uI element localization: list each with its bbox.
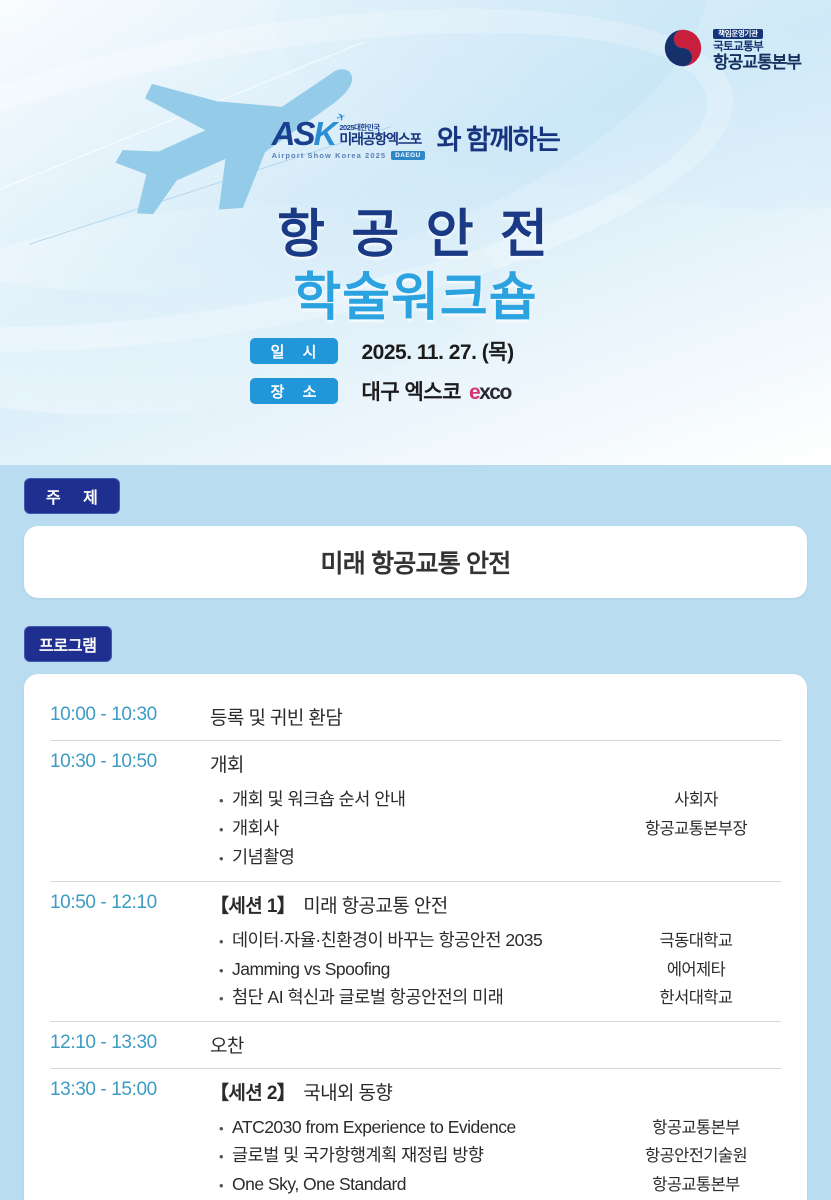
program-item-speaker: 항공교통본부	[611, 1114, 781, 1138]
event-venue-value: 대구 엑스코 exco	[362, 376, 582, 406]
program-card: 10:00 - 10:30등록 및 귀빈 환담10:30 - 10:50개회•개…	[24, 674, 807, 1200]
program-item-text: 글로벌 및 국가항행계획 재정립 방향	[232, 1142, 611, 1167]
program-item-speaker: 항공교통본부장	[611, 815, 781, 839]
program-session-label: 【세션 1】	[210, 896, 295, 917]
program-row-time: 12:10 - 13:30	[50, 1031, 210, 1054]
program-item-speaker: 항공안전기술원	[611, 1142, 781, 1166]
program-item-text: 기념촬영	[232, 844, 611, 869]
bullet-icon: •	[210, 822, 232, 837]
program-item-text: 개회 및 워크숍 순서 안내	[232, 786, 611, 811]
program-item-speaker: 항공교통본부	[611, 1171, 781, 1195]
program-heading-text: 오찬	[210, 1036, 244, 1057]
program-session-label: 【세션 2】	[210, 1083, 295, 1104]
program-row-heading: 등록 및 귀빈 환담	[210, 703, 781, 730]
venue-text: 대구 엑스코	[362, 376, 461, 406]
gov-department-label: 항공교통본부	[713, 54, 801, 72]
program-item-text: 개회사	[232, 815, 611, 840]
program-item-text: 데이터·자율·친환경이 바꾸는 항공안전 2035	[232, 927, 611, 952]
program-row: 10:50 - 12:10【세션 1】미래 항공교통 안전•데이터·자율·친환경…	[50, 882, 781, 1022]
event-info-block: 일 시 2025. 11. 27. (목) 장 소 대구 엑스코 exco	[0, 336, 831, 416]
ask-city-badge: DAEGU	[391, 151, 424, 160]
venue-label-pill: 장 소	[250, 378, 338, 404]
program-item: •ATC2030 from Experience to Evidence항공교통…	[210, 1112, 781, 1140]
program-row-heading: 개회	[210, 750, 781, 777]
program-row: 10:00 - 10:30등록 및 귀빈 환담	[50, 694, 781, 741]
bullet-icon: •	[210, 793, 232, 808]
program-row: 10:30 - 10:50개회•개회 및 워크숍 순서 안내사회자•개회사항공교…	[50, 741, 781, 882]
program-item-text: ATC2030 from Experience to Evidence	[232, 1117, 611, 1138]
theme-text: 미래 항공교통 안전	[321, 544, 511, 580]
program-item: •글로벌 및 국가항행계획 재정립 방향항공안전기술원	[210, 1140, 781, 1169]
program-row-heading: 오찬	[210, 1031, 781, 1058]
program-heading-text: 개회	[210, 755, 244, 776]
event-date-value: 2025. 11. 27. (목)	[362, 336, 582, 366]
program-item: •One Sky, One Standard항공교통본부	[210, 1169, 781, 1197]
date-text: 2025. 11. 27. (목)	[362, 336, 514, 366]
bullet-icon: •	[210, 963, 232, 978]
event-date-row: 일 시 2025. 11. 27. (목)	[0, 336, 831, 366]
program-item-speaker: 한서대학교	[611, 984, 781, 1008]
program-item-list: •데이터·자율·친환경이 바꾸는 항공안전 2035극동대학교•Jamming …	[210, 925, 781, 1011]
program-item: •Jamming vs Spoofing에어제타	[210, 954, 781, 982]
ask-logo: ASK✈ 2025대한민국 미래공항엑스포 Airport Show Korea…	[272, 119, 425, 160]
program-row: 12:10 - 13:30오찬	[50, 1022, 781, 1069]
gov-ministry-label: 국토교통부	[713, 41, 801, 53]
program-row-body: 【세션 2】국내외 동향•ATC2030 from Experience to …	[210, 1078, 781, 1197]
program-row: 13:30 - 15:00【세션 2】국내외 동향•ATC2030 from E…	[50, 1069, 781, 1200]
bullet-icon: •	[210, 934, 232, 949]
program-item-speaker: 에어제타	[611, 956, 781, 980]
program-item-speaker: 사회자	[611, 786, 781, 810]
program-item-speaker: 극동대학교	[611, 927, 781, 951]
ask-kr-large: 미래공항엑스포	[339, 132, 421, 146]
program-item: •첨단 AI 혁신과 글로벌 항공안전의 미래한서대학교	[210, 982, 781, 1011]
program-row-time: 10:00 - 10:30	[50, 703, 210, 726]
poster-header: 책임운영기관 국토교통부 항공교통본부 ASK✈ 2025대한민국 미래공항엑스…	[0, 0, 831, 465]
bullet-icon: •	[210, 1149, 232, 1164]
program-row-heading: 【세션 1】미래 항공교통 안전	[210, 891, 781, 918]
ask-logo-row: ASK✈ 2025대한민국 미래공항엑스포 Airport Show Korea…	[0, 118, 831, 161]
ask-kr-small: 2025대한민국	[339, 124, 421, 132]
taegeuk-icon	[662, 27, 704, 69]
bullet-icon: •	[210, 1178, 232, 1193]
theme-section: 주 제 미래 항공교통 안전	[0, 478, 831, 598]
program-item: •데이터·자율·친환경이 바꾸는 항공안전 2035극동대학교	[210, 925, 781, 954]
event-venue-row: 장 소 대구 엑스코 exco	[0, 376, 831, 406]
program-item-text: Jamming vs Spoofing	[232, 959, 611, 980]
poster-title-line2: 학술워크숍	[0, 255, 831, 330]
program-item: •개회 및 워크숍 순서 안내사회자	[210, 784, 781, 813]
program-row-body: 오찬	[210, 1031, 781, 1058]
ask-sub-english: Airport Show Korea 2025	[272, 151, 387, 160]
with-text: 와 함께하는	[437, 118, 560, 157]
government-logo: 책임운영기관 국토교통부 항공교통본부	[662, 24, 801, 72]
ask-wordmark: ASK✈	[272, 119, 336, 148]
program-section: 프로그램 10:00 - 10:30등록 및 귀빈 환담10:30 - 10:5…	[0, 626, 831, 1200]
program-row-body: 등록 및 귀빈 환담	[210, 703, 781, 730]
program-item-list: •ATC2030 from Experience to Evidence항공교통…	[210, 1112, 781, 1197]
theme-section-badge: 주 제	[24, 478, 120, 514]
program-heading-text: 미래 항공교통 안전	[303, 896, 447, 917]
bullet-icon: •	[210, 1121, 232, 1136]
poster: 책임운영기관 국토교통부 항공교통본부 ASK✈ 2025대한민국 미래공항엑스…	[0, 0, 831, 1200]
program-item-text: One Sky, One Standard	[232, 1174, 611, 1195]
bullet-icon: •	[210, 851, 232, 866]
program-row-time: 10:50 - 12:10	[50, 891, 210, 914]
program-item: •기념촬영	[210, 842, 781, 871]
program-row-body: 【세션 1】미래 항공교통 안전•데이터·자율·친환경이 바꾸는 항공안전 20…	[210, 891, 781, 1011]
bullet-icon: •	[210, 991, 232, 1006]
theme-card: 미래 항공교통 안전	[24, 526, 807, 598]
program-row-body: 개회•개회 및 워크숍 순서 안내사회자•개회사항공교통본부장•기념촬영	[210, 750, 781, 871]
program-heading-text: 국내외 동향	[303, 1083, 392, 1104]
program-item: •개회사항공교통본부장	[210, 813, 781, 842]
program-heading-text: 등록 및 귀빈 환담	[210, 708, 342, 729]
program-table: 10:00 - 10:30등록 및 귀빈 환담10:30 - 10:50개회•개…	[50, 694, 781, 1200]
program-row-time: 13:30 - 15:00	[50, 1078, 210, 1101]
program-row-time: 10:30 - 10:50	[50, 750, 210, 773]
date-label-pill: 일 시	[250, 338, 338, 364]
exco-logo: exco	[469, 381, 511, 405]
program-row-heading: 【세션 2】국내외 동향	[210, 1078, 781, 1105]
program-item-text: 첨단 AI 혁신과 글로벌 항공안전의 미래	[232, 984, 611, 1009]
gov-badge-label: 책임운영기관	[713, 29, 763, 40]
program-section-badge: 프로그램	[24, 626, 112, 662]
program-item-list: •개회 및 워크숍 순서 안내사회자•개회사항공교통본부장•기념촬영	[210, 784, 781, 871]
